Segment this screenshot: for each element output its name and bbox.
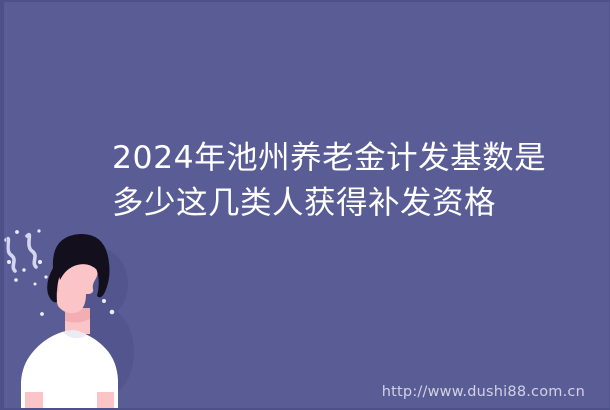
promo-card: 2024年池州养老金计发基数是 多少这几类人获得补发资格 http://www.… (0, 0, 610, 410)
arm-left (25, 392, 43, 410)
squiggle-decoration (6, 235, 36, 271)
watermark-url: http://www.dushi88.com.cn (382, 384, 585, 400)
person-profile-illustration (0, 222, 175, 410)
page-title: 2024年池州养老金计发基数是 多少这几类人获得补发资格 (112, 136, 582, 226)
card-inner-seam (6, 2, 7, 408)
arm-right (97, 392, 114, 410)
